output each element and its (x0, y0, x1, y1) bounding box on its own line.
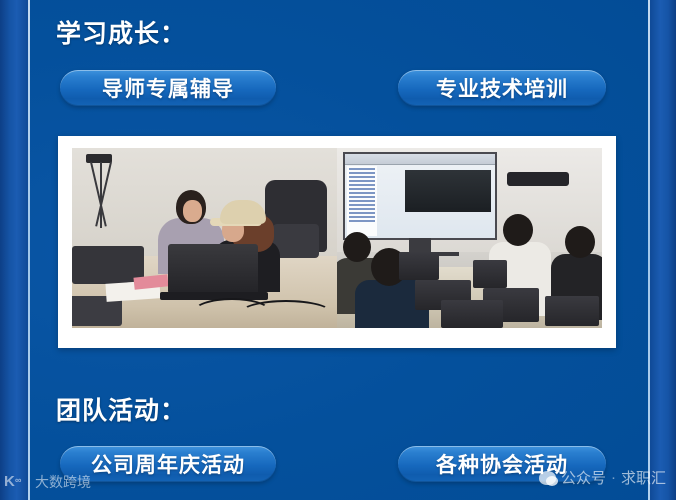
presentation-screen (343, 152, 497, 240)
slide-canvas: 学习成长： 导师专属辅导 专业技术培训 (0, 0, 676, 500)
section-heading-learning: 学习成长： (56, 14, 186, 50)
photo-right-meeting-room (337, 148, 602, 328)
watermark-dashukuajing: K∞ 大数跨境 (4, 472, 91, 492)
section-heading-team-activities: 团队活动： (56, 391, 186, 427)
right-divider-line (648, 0, 650, 500)
brand-logo-icon: K∞ (4, 474, 30, 490)
brand-logo-superscript: ∞ (15, 472, 20, 488)
soundbar (507, 172, 569, 186)
right-side-band (650, 0, 676, 500)
main-panel: 学习成长： 导师专属辅导 专业技术培训 (30, 0, 648, 500)
office-chair (265, 180, 327, 252)
button-mentor-coaching[interactable]: 导师专属辅导 (60, 70, 276, 106)
button-technical-training[interactable]: 专业技术培训 (398, 70, 606, 106)
button-anniversary-event[interactable]: 公司周年庆活动 (60, 446, 276, 482)
watermark-wechat-account: 公众号 · 求职汇 (539, 467, 666, 488)
watermark-right-account: 求职汇 (621, 467, 666, 488)
photo-card (58, 136, 616, 348)
left-side-band (0, 0, 28, 500)
photo-collage (72, 148, 602, 328)
photo-left-office-mentoring (72, 148, 337, 328)
wechat-icon (539, 471, 556, 485)
watermark-left-text: 大数跨境 (35, 472, 91, 492)
watermark-right-label: 公众号 (561, 467, 606, 488)
watermark-separator: · (611, 469, 616, 486)
